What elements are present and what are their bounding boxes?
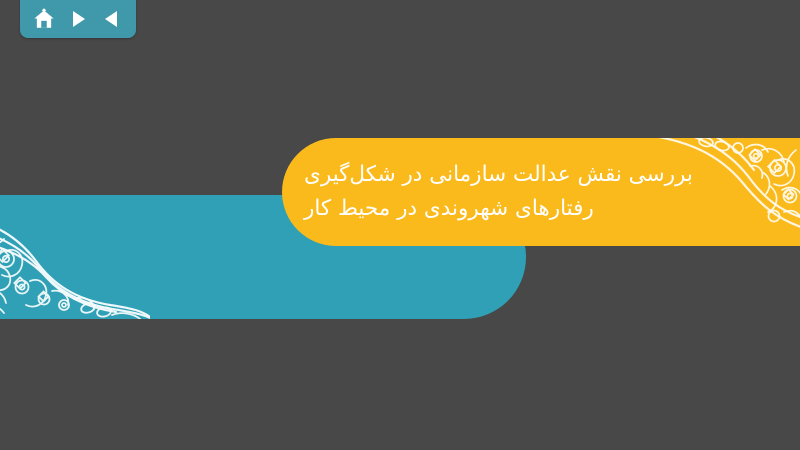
triangle-left-icon [103,9,121,29]
previous-slide-button[interactable] [98,6,126,32]
title-line-2: رفتارهای شهروندی در محیط کار [304,192,594,226]
triangle-right-icon [69,9,87,29]
home-icon [33,8,55,30]
arabesque-ornament-teal [0,195,150,319]
next-slide-button[interactable] [64,6,92,32]
slide-navigation-bar [20,0,136,38]
slide-title: بررسی نقش عدالت سازمانی در شکل‌گیری رفتا… [304,138,774,246]
title-line-1: بررسی نقش عدالت سازمانی در شکل‌گیری [304,158,693,192]
title-banner: بررسی نقش عدالت سازمانی در شکل‌گیری رفتا… [282,138,800,246]
home-button[interactable] [30,6,58,32]
presentation-slide: بررسی نقش عدالت سازمانی در شکل‌گیری رفتا… [0,0,800,450]
